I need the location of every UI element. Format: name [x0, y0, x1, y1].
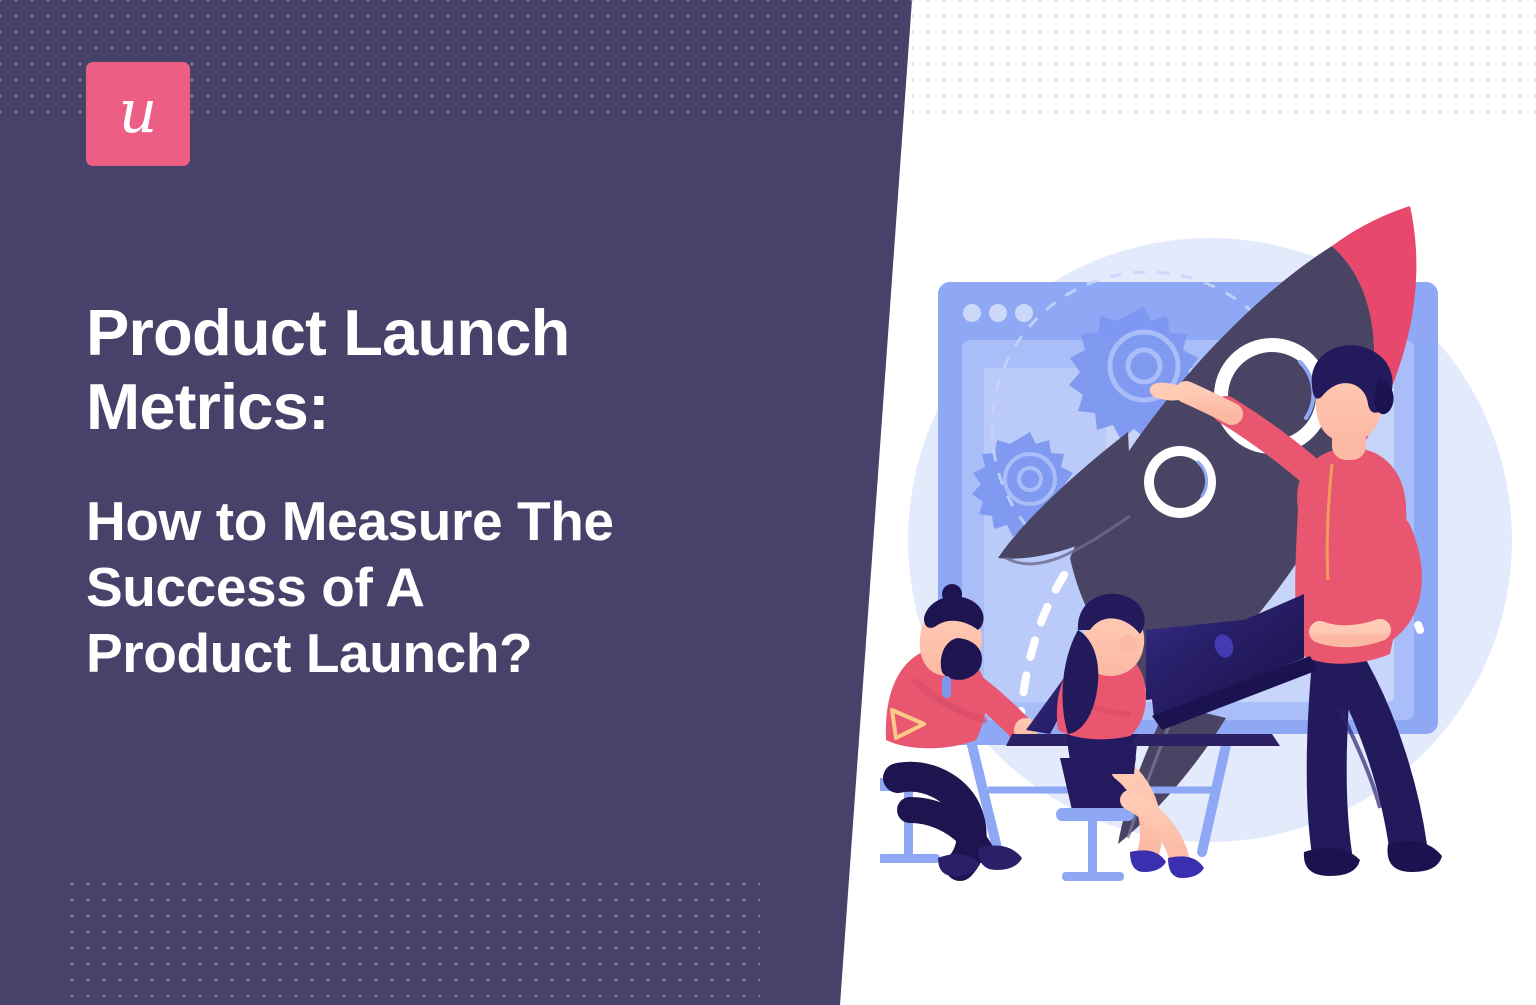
dot-grid-top-right	[912, 0, 1536, 118]
dot-grid-bottom-left	[60, 872, 760, 997]
browser-dot-2	[989, 304, 1007, 322]
poster-canvas: u Product Launch Metrics: How to Measure…	[0, 0, 1536, 1005]
headline-block: Product Launch Metrics: How to Measure T…	[86, 296, 806, 686]
browser-dot-3	[1015, 304, 1033, 322]
userpilot-logo-glyph: u	[119, 82, 158, 142]
page-subtitle: How to Measure The Success of A Product …	[86, 488, 806, 686]
userpilot-logo[interactable]: u	[86, 62, 190, 166]
accent-pill	[942, 676, 951, 698]
product-launch-illustration	[880, 110, 1536, 910]
browser-dot-1	[963, 304, 981, 322]
page-title: Product Launch Metrics:	[86, 296, 806, 444]
